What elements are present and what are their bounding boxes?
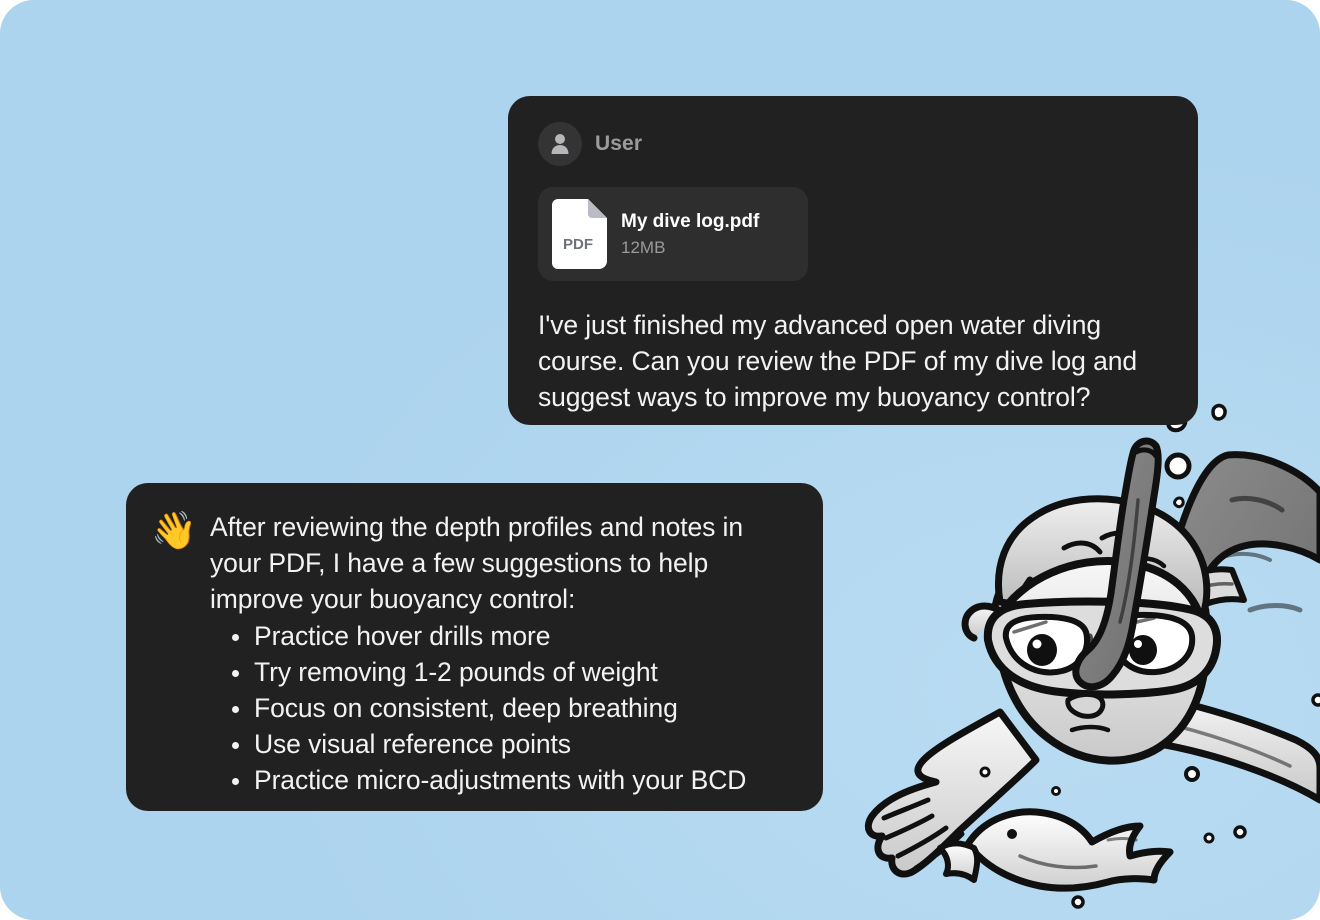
user-message-header: User (538, 120, 1170, 168)
pdf-file-icon: PDF (552, 199, 607, 269)
suggestion-list: Practice hover drills more Try removing … (210, 618, 795, 798)
list-item: Use visual reference points (228, 726, 795, 762)
assistant-message-bubble: 👋 After reviewing the depth profiles and… (126, 483, 823, 811)
user-name-label: User (595, 132, 642, 156)
user-message-text: I've just finished my advanced open wate… (538, 307, 1170, 415)
assistant-message-body: After reviewing the depth profiles and n… (210, 509, 795, 787)
attachment-filesize: 12MB (621, 238, 759, 258)
attachment-meta: My dive log.pdf 12MB (621, 211, 759, 258)
pdf-attachment-card[interactable]: PDF My dive log.pdf 12MB (538, 187, 808, 281)
assistant-intro-text: After reviewing the depth profiles and n… (210, 509, 795, 617)
waving-hand-emoji: 👋 (150, 509, 198, 787)
list-item: Practice hover drills more (228, 618, 795, 654)
list-item: Focus on consistent, deep breathing (228, 690, 795, 726)
chat-scene: User PDF My dive log.pdf 12MB I've just … (0, 0, 1320, 920)
list-item: Practice micro-adjustments with your BCD (228, 762, 795, 798)
person-avatar-icon (538, 122, 582, 166)
list-item: Try removing 1-2 pounds of weight (228, 654, 795, 690)
attachment-filename: My dive log.pdf (621, 211, 759, 233)
user-message-bubble: User PDF My dive log.pdf 12MB I've just … (508, 96, 1198, 425)
pdf-icon-label: PDF (563, 236, 593, 253)
